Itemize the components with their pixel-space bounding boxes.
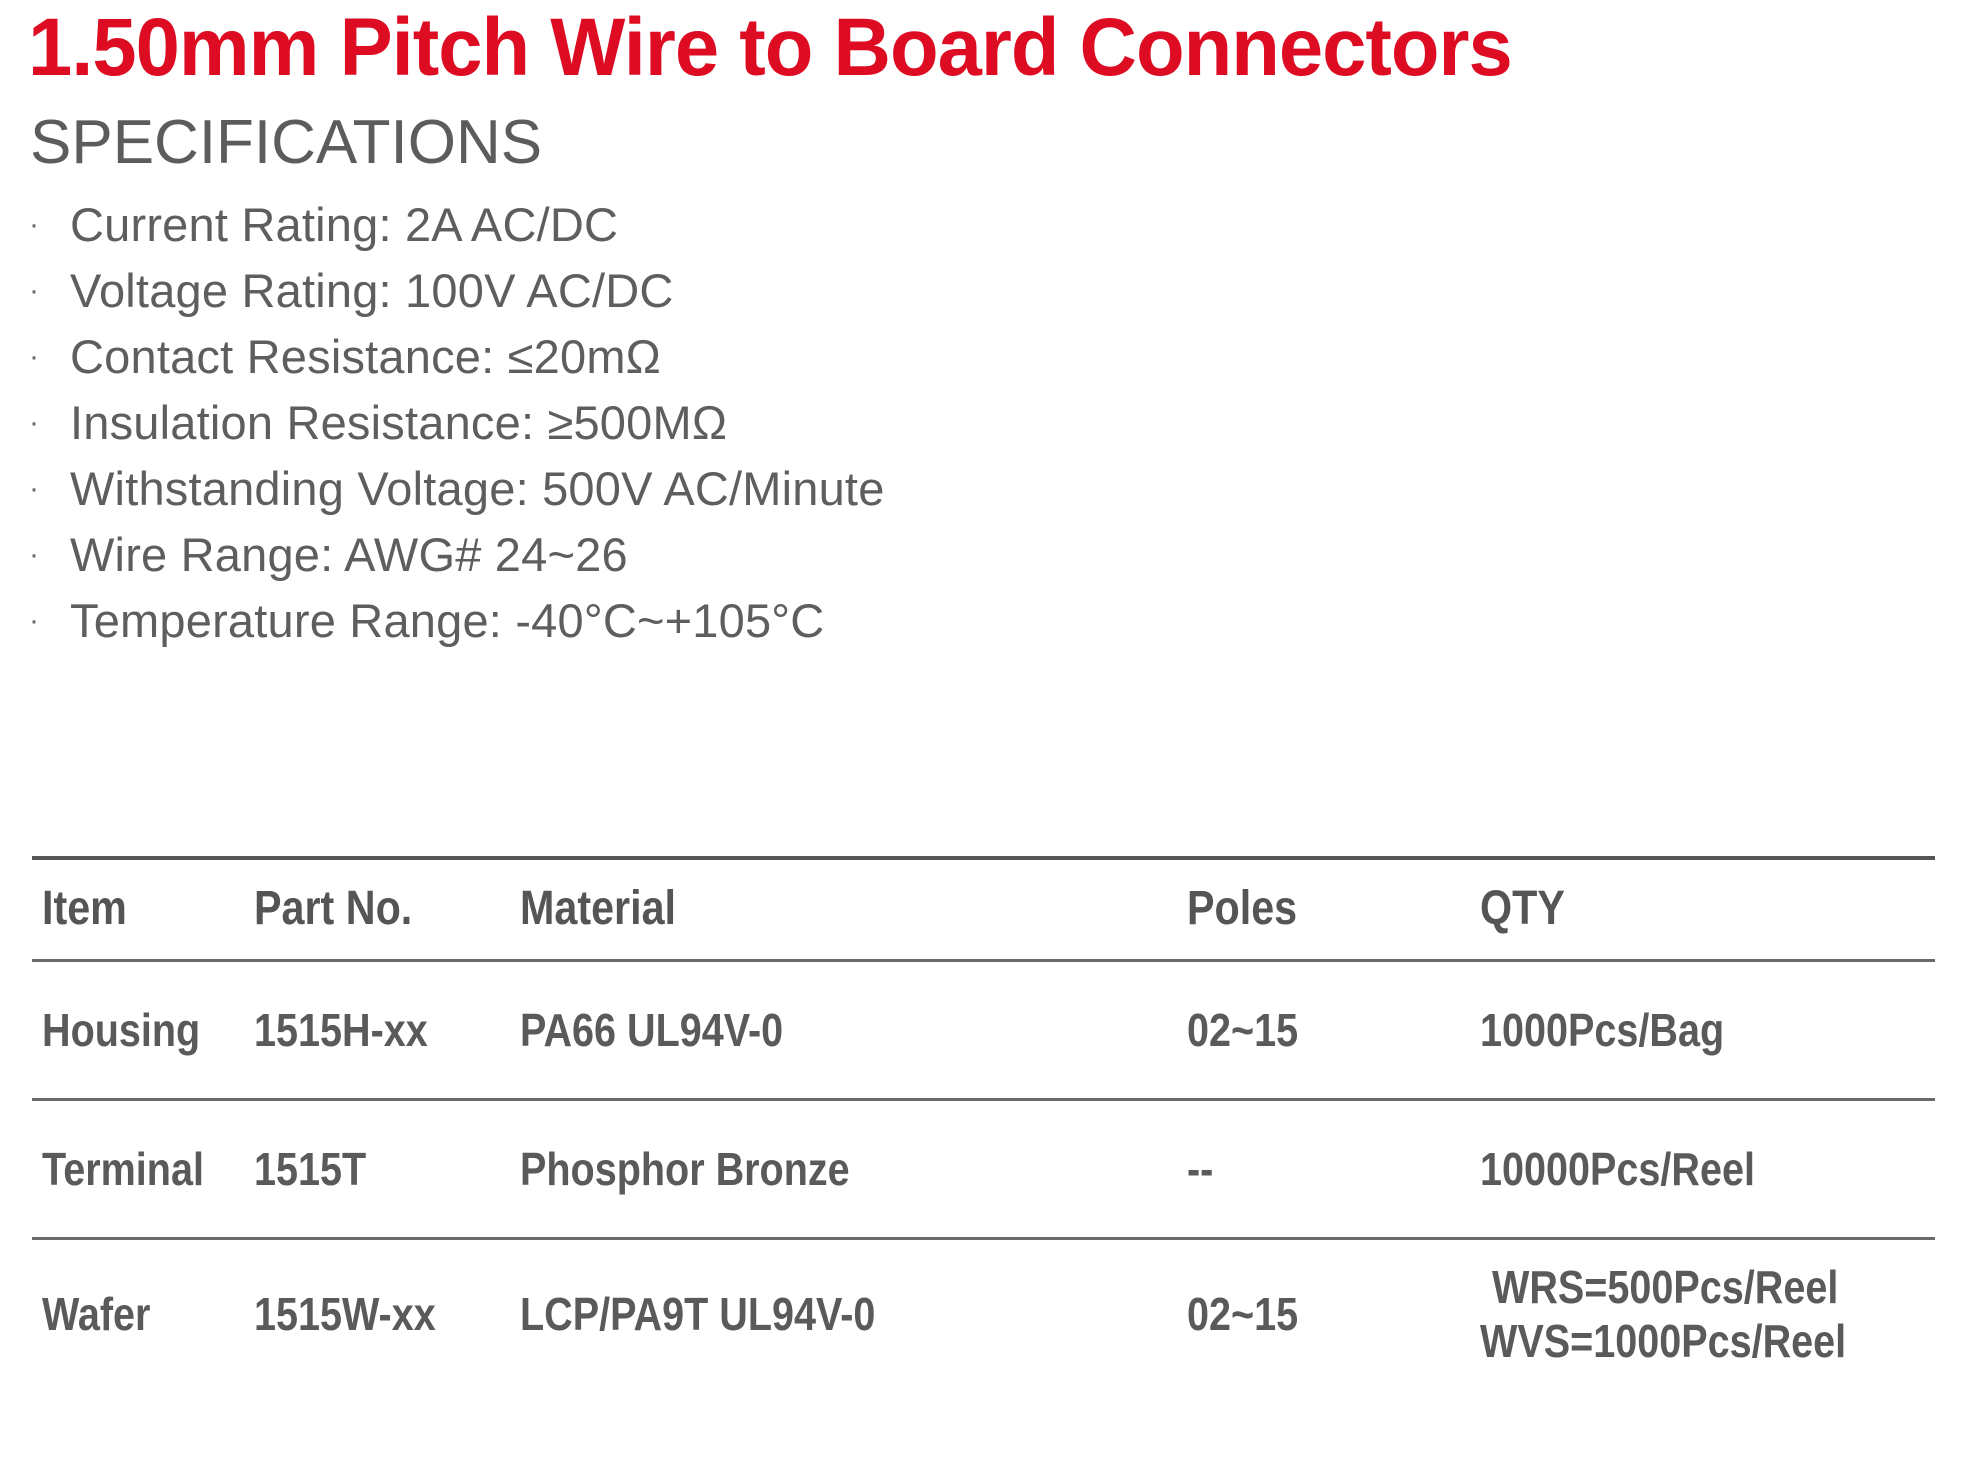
spec-label: Temperature Range: -40°C~+105°C [70, 588, 824, 654]
spec-label: Voltage Rating: 100V AC/DC [70, 258, 674, 324]
spec-list-item: · Temperature Range: -40°C~+105°C [0, 588, 1200, 654]
bullet-icon: · [27, 390, 41, 456]
bullet-icon: · [27, 456, 41, 522]
spec-label: Contact Resistance: ≤20mΩ [70, 324, 661, 390]
cell-qty: WRS=500Pcs/Reel WVS=1000Pcs/Reel [1480, 1240, 1906, 1388]
cell-poles: 02~15 [1187, 962, 1316, 1098]
bullet-icon: · [27, 192, 41, 258]
cell-poles: -- [1187, 1101, 1218, 1237]
column-header-material: Material [520, 860, 701, 959]
parts-table: Item Part No. Material Poles QTY Housing… [32, 856, 1935, 1388]
bullet-icon: · [27, 324, 41, 390]
spec-list-item: · Contact Resistance: ≤20mΩ [0, 324, 1200, 390]
bullet-icon: · [27, 588, 41, 654]
cell-part-no: 1515W-xx [254, 1240, 465, 1388]
specifications-list: · Current Rating: 2A AC/DC · Voltage Rat… [0, 192, 1200, 654]
cell-item: Terminal [42, 1101, 230, 1237]
cell-item: Wafer [42, 1240, 168, 1388]
cell-part-no: 1515H-xx [254, 962, 456, 1098]
spec-list-item: · Insulation Resistance: ≥500MΩ [0, 390, 1200, 456]
cell-material: LCP/PA9T UL94V-0 [520, 1240, 933, 1388]
column-header-item: Item [42, 860, 141, 959]
cell-item: Housing [42, 962, 226, 1098]
column-header-poles: Poles [1187, 860, 1315, 959]
column-header-part-no: Part No. [254, 860, 438, 959]
column-header-qty: QTY [1480, 860, 1579, 959]
cell-qty-line-1: WRS=500Pcs/Reel [1492, 1260, 1838, 1314]
specifications-heading: SPECIFICATIONS [30, 106, 542, 180]
bullet-icon: · [27, 522, 41, 588]
cell-material: PA66 UL94V-0 [520, 962, 826, 1098]
cell-material: Phosphor Bronze [520, 1101, 903, 1237]
bullet-icon: · [27, 258, 41, 324]
table-row: Terminal 1515T Phosphor Bronze -- 10000P… [32, 1101, 1935, 1237]
cell-qty: 10000Pcs/Reel [1480, 1101, 1800, 1237]
spec-list-item: · Current Rating: 2A AC/DC [0, 192, 1200, 258]
cell-poles: 02~15 [1187, 1240, 1316, 1388]
table-row: Housing 1515H-xx PA66 UL94V-0 02~15 1000… [32, 962, 1935, 1098]
cell-qty-line-2: WVS=1000Pcs/Reel [1480, 1314, 1846, 1368]
spec-list-item: · Withstanding Voltage: 500V AC/Minute [0, 456, 1200, 522]
table-header-row: Item Part No. Material Poles QTY [32, 860, 1935, 959]
spec-list-item: · Voltage Rating: 100V AC/DC [0, 258, 1200, 324]
spec-list-item: · Wire Range: AWG# 24~26 [0, 522, 1200, 588]
spec-label: Current Rating: 2A AC/DC [70, 192, 618, 258]
spec-label: Insulation Resistance: ≥500MΩ [70, 390, 727, 456]
spec-label: Wire Range: AWG# 24~26 [70, 522, 628, 588]
page-title: 1.50mm Pitch Wire to Board Connectors [28, 0, 1512, 100]
cell-qty: 1000Pcs/Bag [1480, 962, 1764, 1098]
spec-label: Withstanding Voltage: 500V AC/Minute [70, 456, 885, 522]
table-row: Wafer 1515W-xx LCP/PA9T UL94V-0 02~15 WR… [32, 1240, 1935, 1388]
cell-part-no: 1515T [254, 1101, 384, 1237]
